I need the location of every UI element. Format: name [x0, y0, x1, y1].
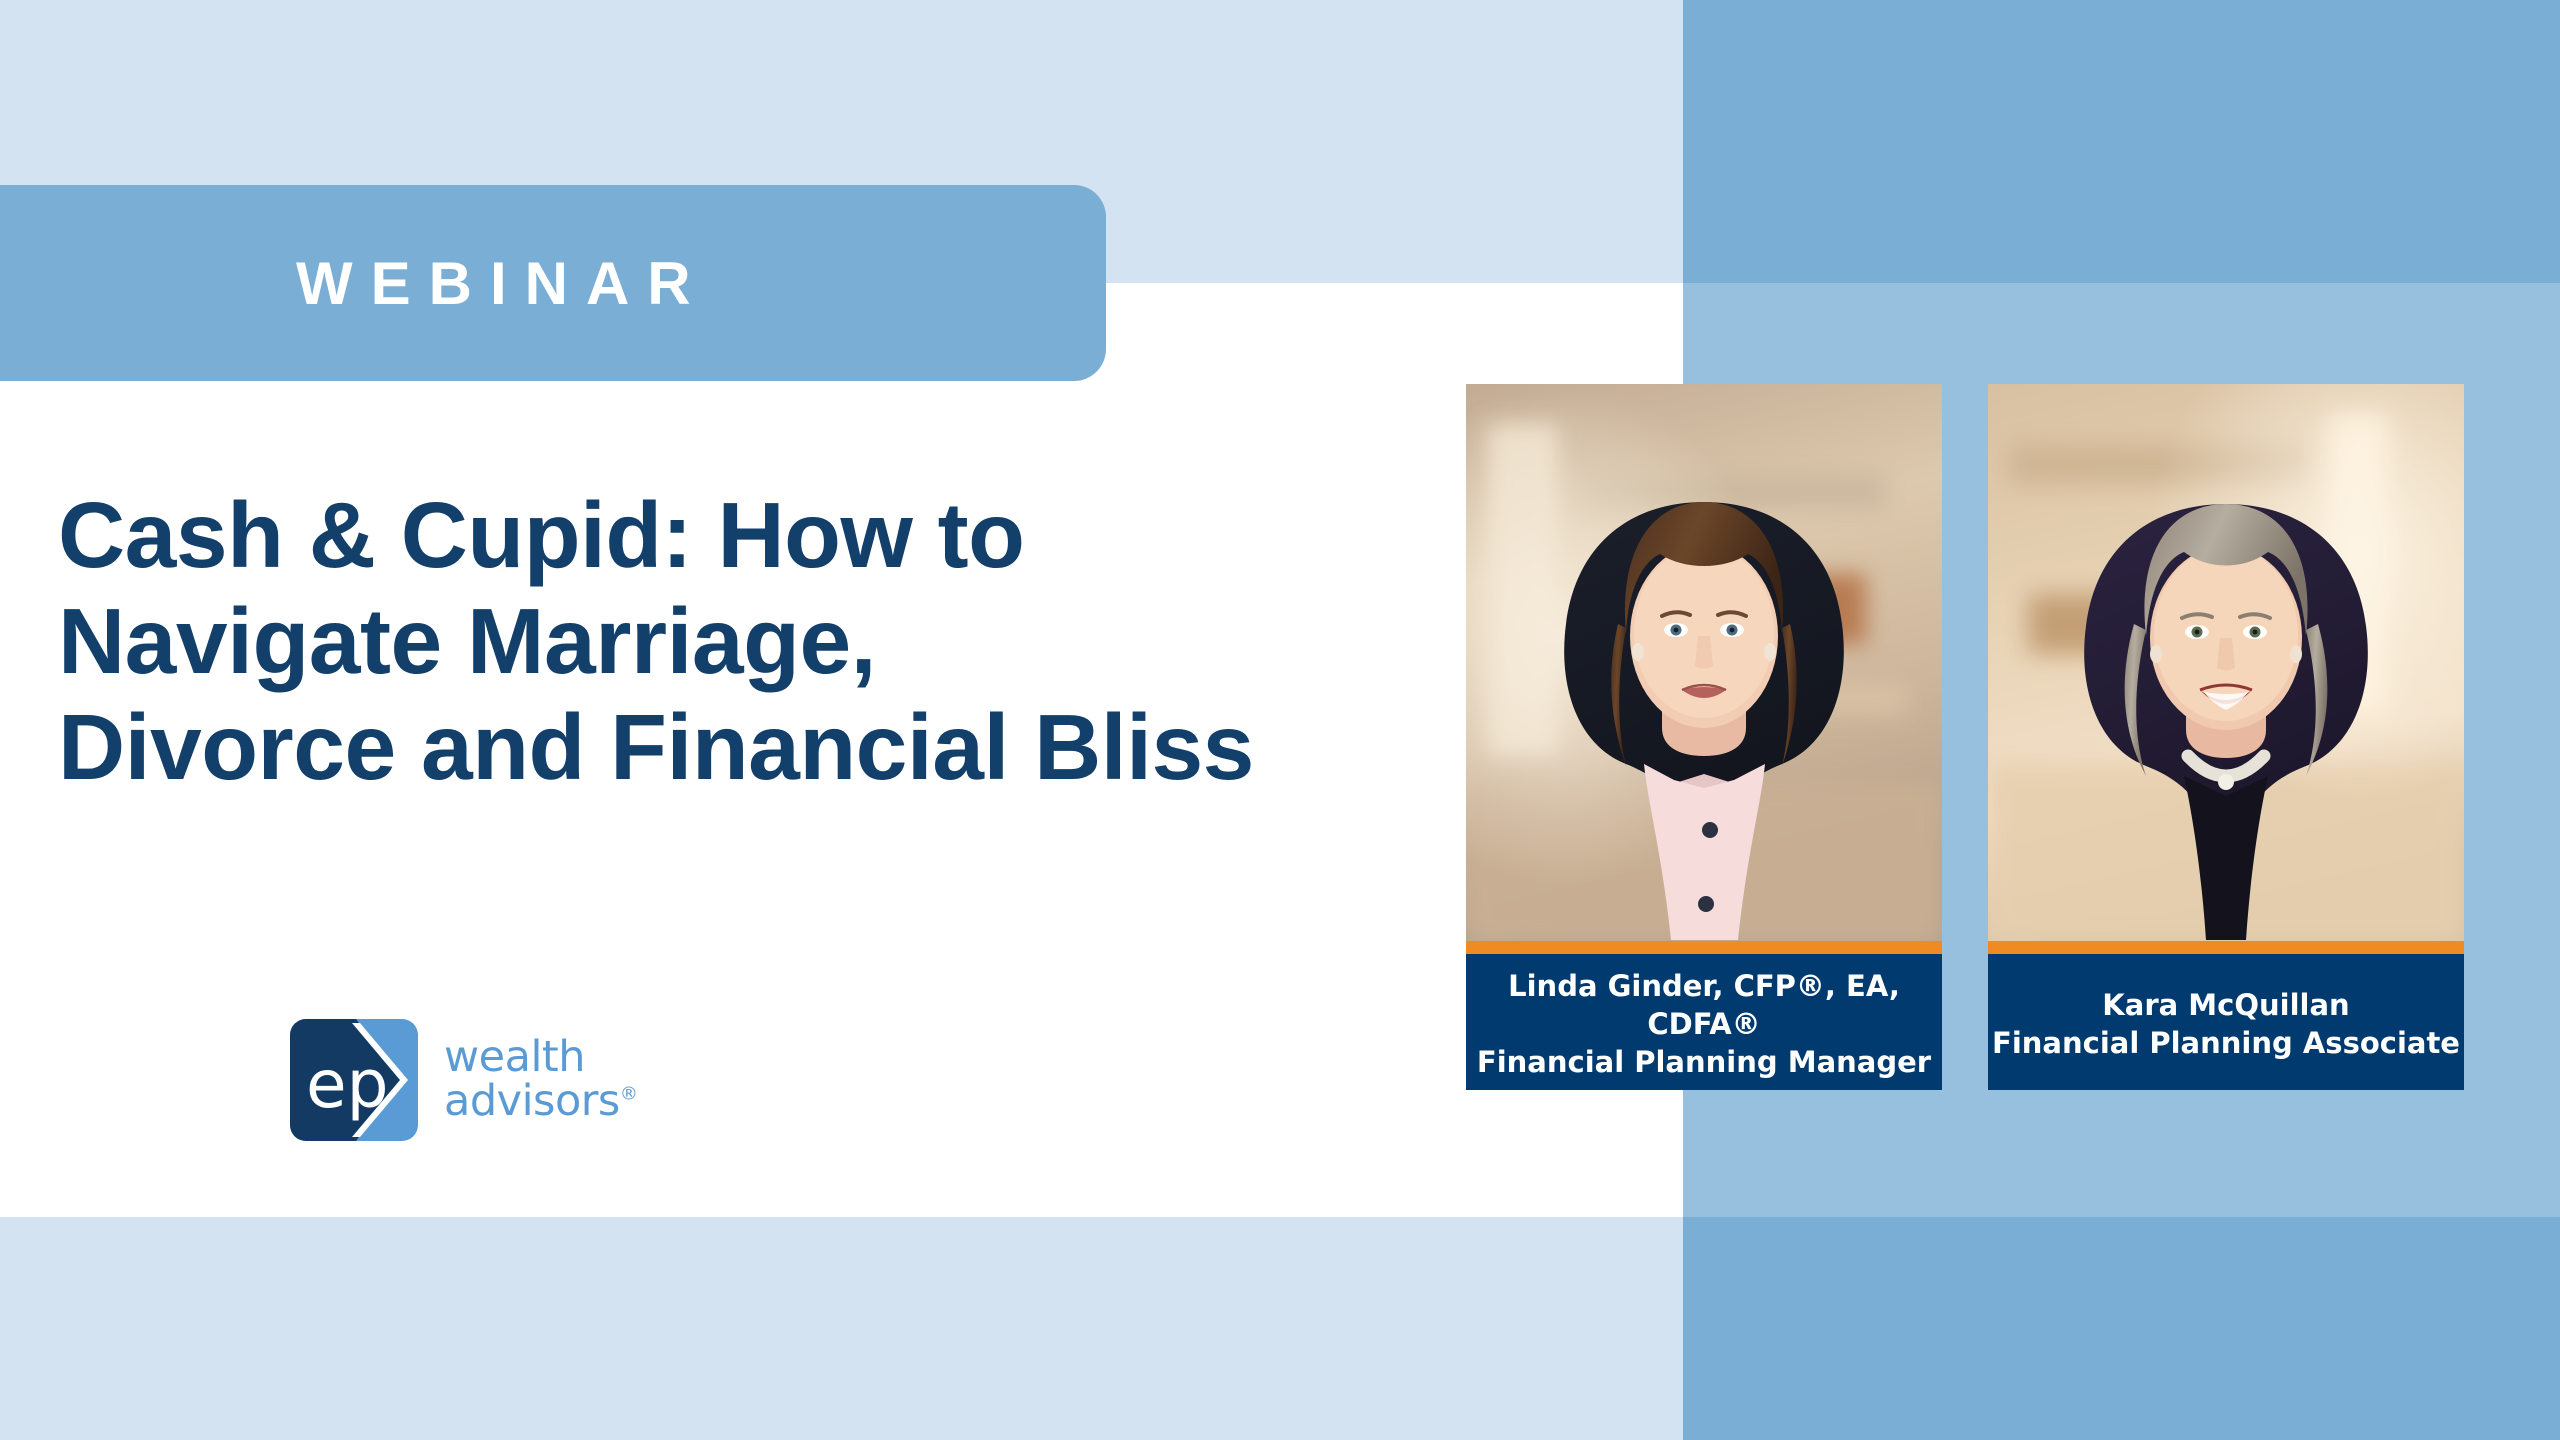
speaker-list: Linda Ginder, CFP®, EA, CDFA® Financial … — [1466, 384, 2464, 1090]
speaker-nameplate: Linda Ginder, CFP®, EA, CDFA® Financial … — [1466, 954, 1942, 1090]
webinar-badge-label: WEBINAR — [296, 249, 709, 318]
logo-word-wealth: wealth — [444, 1036, 637, 1080]
speaker-role: Financial Planning Associate — [1992, 1024, 2460, 1062]
speaker-photo — [1466, 384, 1942, 941]
background-band-pale-bottom — [0, 1217, 1683, 1440]
webinar-promo-graphic: WEBINAR Cash & Cupid: How to Navigate Ma… — [0, 0, 2560, 1440]
speaker-accent-bar — [1466, 941, 1942, 954]
svg-text:ep: ep — [306, 1046, 389, 1123]
speaker-role: Financial Planning Manager — [1477, 1043, 1931, 1081]
ep-logo-mark-icon: ep — [290, 1019, 418, 1141]
speaker-card: Kara McQuillan Financial Planning Associ… — [1988, 384, 2464, 1090]
logo-wordmark: wealth advisors® — [444, 1036, 637, 1124]
webinar-badge: WEBINAR — [0, 185, 1106, 381]
logo-word-advisors: advisors® — [444, 1080, 637, 1124]
background-band-blue-bottom — [1683, 1217, 2560, 1440]
speaker-accent-bar — [1988, 941, 2464, 954]
registered-trademark-icon: ® — [620, 1084, 638, 1105]
background-panel-blue-top-right — [1683, 0, 2560, 283]
speaker-card: Linda Ginder, CFP®, EA, CDFA® Financial … — [1466, 384, 1942, 1090]
speaker-photo — [1988, 384, 2464, 941]
speaker-nameplate: Kara McQuillan Financial Planning Associ… — [1988, 954, 2464, 1090]
page-title: Cash & Cupid: How to Navigate Marriage, … — [58, 482, 1478, 800]
ep-wealth-advisors-logo: ep wealth advisors® — [290, 1020, 640, 1140]
speaker-name: Kara McQuillan — [2102, 986, 2349, 1024]
speaker-name: Linda Ginder, CFP®, EA, CDFA® — [1466, 967, 1942, 1044]
